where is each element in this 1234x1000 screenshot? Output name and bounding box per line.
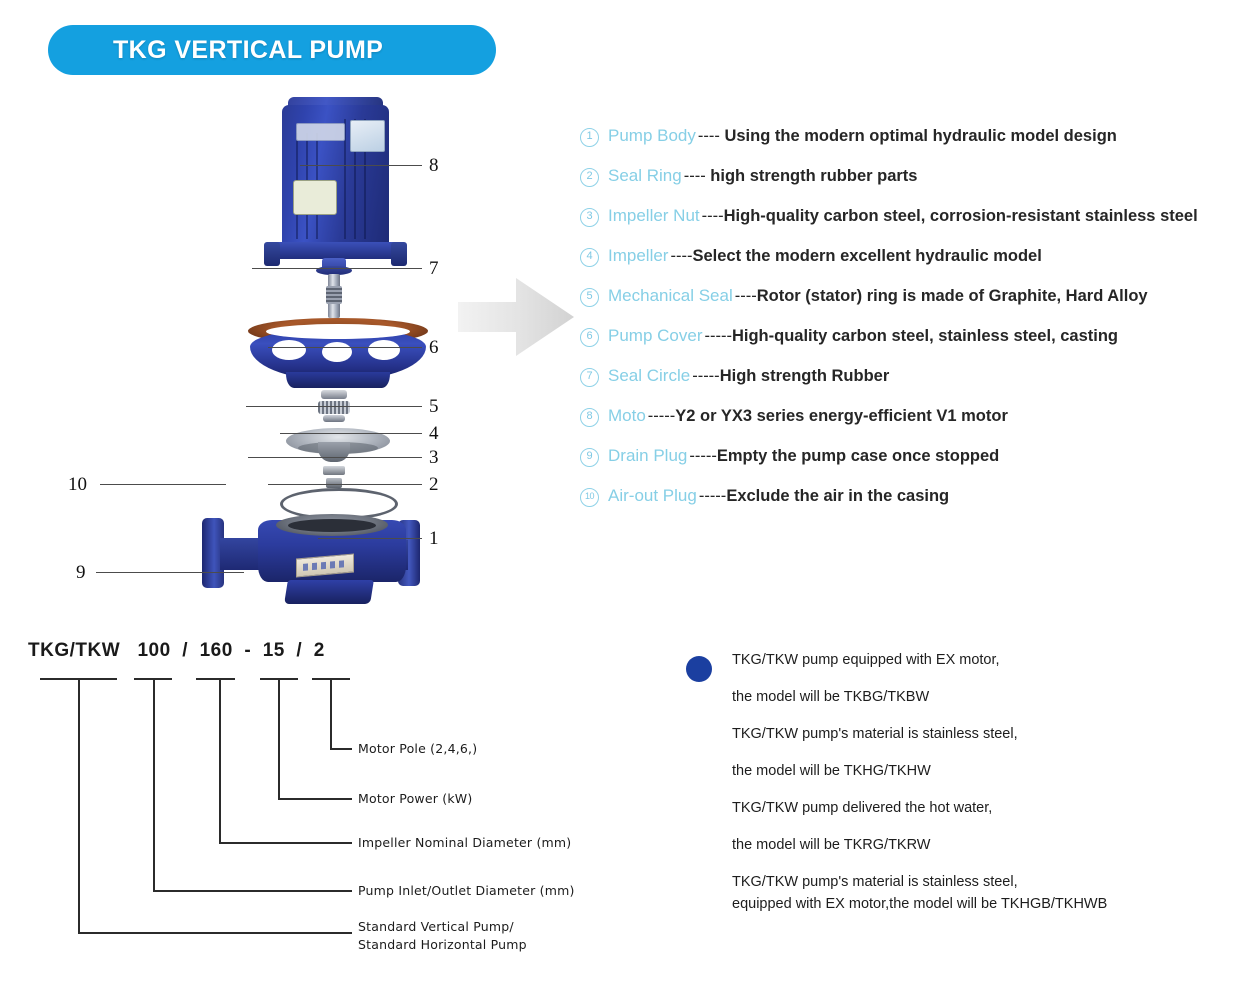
note-line-8: equipped with EX motor,the model will be…: [732, 896, 1206, 912]
motor-nameplate-upper: [296, 123, 345, 141]
legend-part-desc-3: ----High-quality carbon steel, corrosion…: [702, 207, 1198, 226]
leader-line-10: [100, 484, 226, 485]
legend-part-desc-7: -----High strength Rubber: [692, 367, 889, 386]
legend-number-6: 6: [580, 328, 599, 347]
legend-part-desc-9: -----Empty the pump case once stopped: [689, 447, 999, 466]
code-label-inlet-outlet-diameter: Pump Inlet/Outlet Diameter (mm): [358, 882, 575, 900]
page-title: TKG VERTICAL PUMP: [113, 36, 383, 65]
callout-number-6: 6: [429, 337, 439, 359]
legend-number-7: 7: [580, 368, 599, 387]
pump-cover-window-mid: [322, 342, 352, 362]
legend-part-name-1: Pump Body: [608, 126, 696, 146]
note-line-1: TKG/TKW pump equipped with EX motor,: [732, 652, 1206, 668]
legend-part-name-8: Moto: [608, 406, 646, 426]
mechanical-seal-body: [318, 401, 350, 414]
pump-base-plate: [284, 580, 374, 604]
legend-part-desc-2: ---- high strength rubber parts: [684, 167, 918, 186]
legend-item-air-out-plug: 10 Air-out Plug -----Exclude the air in …: [580, 486, 1230, 518]
leader-line-9: [96, 572, 244, 573]
pump-cover-window-left: [272, 340, 306, 360]
callout-number-3: 3: [429, 447, 439, 469]
callout-number-5: 5: [429, 396, 439, 418]
leader-line-7: [252, 268, 422, 269]
legend-part-name-7: Seal Circle: [608, 366, 690, 386]
code-dropline-pole: [330, 678, 332, 748]
pump-body-bore: [288, 519, 376, 532]
model-code-breakdown: TKG/TKW 100 / 160 - 15 / 2 Motor Pole (2…: [28, 640, 608, 960]
leader-line-4: [280, 433, 422, 434]
motor-flange-foot-right: [391, 242, 407, 266]
callout-number-4: 4: [429, 423, 439, 445]
shaft-knurled-section: [326, 286, 342, 304]
motor-flange-foot-left: [264, 242, 280, 266]
legend-part-desc-4: ----Select the modern excellent hydrauli…: [670, 247, 1041, 266]
callout-number-8: 8: [429, 155, 439, 177]
note-line-6: the model will be TKRG/TKRW: [732, 837, 1206, 853]
legend-part-desc-1: ---- Using the modern optimal hydraulic …: [698, 127, 1117, 146]
legend-item-pump-cover: 6 Pump Cover -----High-quality carbon st…: [580, 326, 1230, 358]
legend-number-3: 3: [580, 208, 599, 227]
code-label-standard-horizontal-pump: Standard Horizontal Pump: [358, 936, 527, 954]
note-line-3: TKG/TKW pump's material is stainless ste…: [732, 726, 1206, 742]
legend-part-name-10: Air-out Plug: [608, 486, 697, 506]
legend-part-name-3: Impeller Nut: [608, 206, 700, 226]
legend-item-impeller-nut: 3 Impeller Nut ----High-quality carbon s…: [580, 206, 1230, 238]
code-dropline-series: [78, 678, 80, 932]
legend-part-desc-8: -----Y2 or YX3 series energy-efficient V…: [648, 407, 1008, 426]
legend-number-8: 8: [580, 408, 599, 427]
legend-part-desc-10: -----Exclude the air in the casing: [699, 487, 949, 506]
flow-arrow-icon: [458, 276, 574, 358]
callout-number-9: 9: [76, 562, 86, 584]
legend-item-drain-plug: 9 Drain Plug -----Empty the pump case on…: [580, 446, 1230, 478]
code-connector-pole: [330, 748, 352, 750]
legend-number-1: 1: [580, 128, 599, 147]
callout-number-10: 10: [68, 474, 87, 496]
legend-number-2: 2: [580, 168, 599, 187]
legend-item-pump-body: 1 Pump Body ---- Using the modern optima…: [580, 126, 1230, 158]
code-connector-inlet: [153, 890, 352, 892]
code-label-motor-power: Motor Power (kW): [358, 790, 472, 808]
code-label-impeller-diameter: Impeller Nominal Diameter (mm): [358, 834, 571, 852]
code-label-standard-vertical-pump: Standard Vertical Pump/: [358, 918, 514, 936]
code-underline-impeller: [196, 678, 235, 680]
legend-number-4: 4: [580, 248, 599, 267]
legend-item-mechanical-seal: 5 Mechanical Seal ----Rotor (stator) rin…: [580, 286, 1230, 318]
leader-line-2: [268, 484, 422, 485]
legend-item-seal-ring: 2 Seal Ring ---- high strength rubber pa…: [580, 166, 1230, 198]
legend-number-9: 9: [580, 448, 599, 467]
model-code-string: TKG/TKW 100 / 160 - 15 / 2: [28, 640, 325, 662]
note-bullet-icon: [686, 656, 712, 682]
leader-line-8: [300, 165, 422, 166]
pump-cover-rim-opening: [266, 324, 410, 339]
note-line-7: TKG/TKW pump's material is stainless ste…: [732, 874, 1206, 890]
pump-cover-foot: [286, 372, 390, 388]
mechanical-seal-upper: [321, 390, 347, 399]
legend-item-seal-circle: 7 Seal Circle -----High strength Rubber: [580, 366, 1230, 398]
legend-part-name-9: Drain Plug: [608, 446, 687, 466]
code-label-motor-pole: Motor Pole (2,4,6,): [358, 740, 477, 758]
mechanical-seal-lower: [323, 415, 345, 422]
motor-mount-flange: [268, 242, 403, 259]
parts-legend: 1 Pump Body ---- Using the modern optima…: [580, 126, 1230, 526]
legend-part-name-2: Seal Ring: [608, 166, 682, 186]
legend-part-name-6: Pump Cover: [608, 326, 702, 346]
code-connector-impeller: [219, 842, 352, 844]
leader-line-1: [318, 538, 422, 539]
legend-number-10: 10: [580, 488, 599, 507]
code-connector-power: [278, 798, 352, 800]
legend-part-name-5: Mechanical Seal: [608, 286, 733, 306]
motor-terminal-box: [293, 180, 337, 215]
legend-part-name-4: Impeller: [608, 246, 668, 266]
page-title-banner: TKG VERTICAL PUMP: [48, 25, 496, 75]
callout-number-2: 2: [429, 474, 439, 496]
legend-item-impeller: 4 Impeller ----Select the modern excelle…: [580, 246, 1230, 278]
code-connector-series: [78, 932, 352, 934]
legend-item-moto: 8 Moto -----Y2 or YX3 series energy-effi…: [580, 406, 1230, 438]
model-variants-notes: TKG/TKW pump equipped with EX motor, the…: [686, 652, 1206, 933]
motor-label-sticker: [350, 120, 385, 152]
callout-number-7: 7: [429, 258, 439, 280]
leader-line-6: [268, 347, 422, 348]
leader-line-5: [246, 406, 422, 407]
impeller-nut-washer: [323, 466, 345, 475]
legend-part-desc-6: -----High-quality carbon steel, stainles…: [704, 327, 1118, 346]
callout-number-1: 1: [429, 528, 439, 550]
note-line-2: the model will be TKBG/TKBW: [732, 689, 1206, 705]
note-line-4: the model will be TKHG/TKHW: [732, 763, 1206, 779]
impeller-nut: [326, 478, 342, 488]
code-dropline-impeller: [219, 678, 221, 842]
code-dropline-power: [278, 678, 280, 798]
leader-line-3: [248, 457, 422, 458]
code-dropline-inlet: [153, 678, 155, 890]
legend-number-5: 5: [580, 288, 599, 307]
legend-part-desc-5: ----Rotor (stator) ring is made of Graph…: [735, 287, 1148, 306]
pump-cover-window-right: [368, 340, 400, 360]
note-line-5: TKG/TKW pump delivered the hot water,: [732, 800, 1206, 816]
impeller-hub: [318, 442, 350, 462]
